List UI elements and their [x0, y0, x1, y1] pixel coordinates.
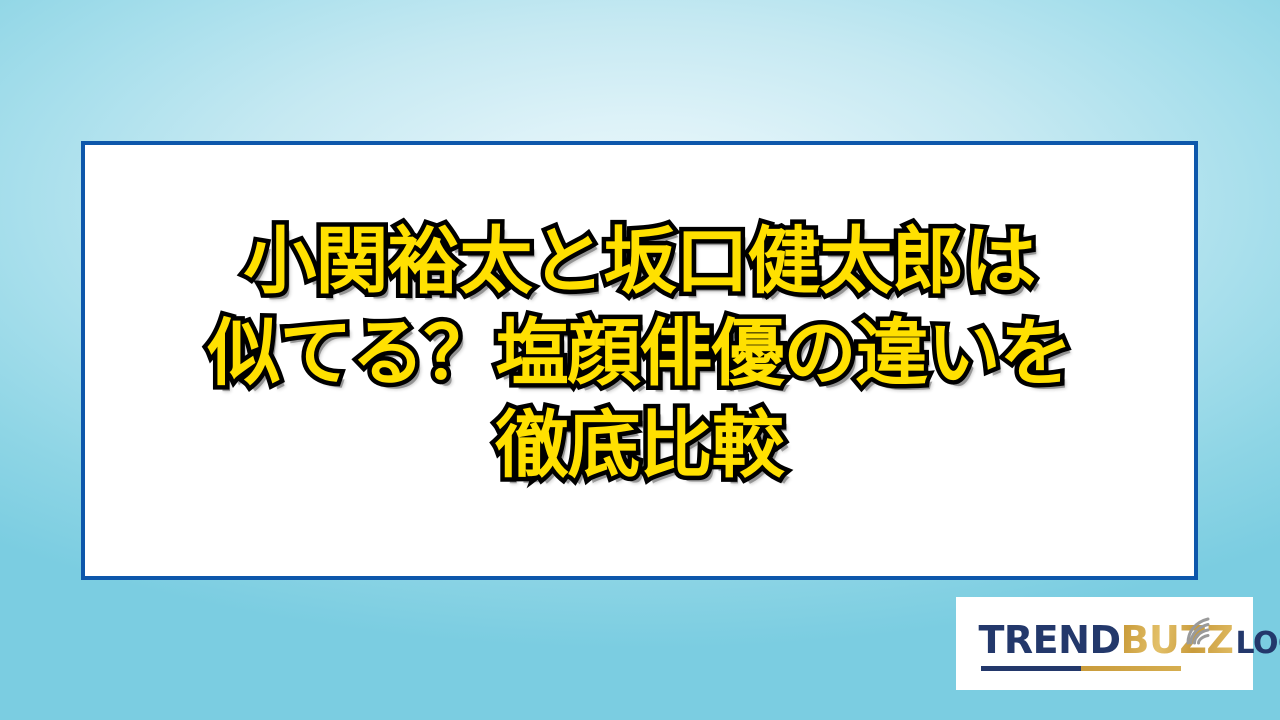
title-text-block: 小関裕太と坂口健太郎は 似てる？塩顔俳優の違いを 徹底比較: [85, 216, 1194, 506]
title-line-3: 徹底比較: [85, 400, 1194, 492]
title-line-2: 似てる？塩顔俳優の違いを: [85, 308, 1194, 400]
signal-waves-icon: [1184, 611, 1224, 645]
logo-underline-bar: [981, 666, 1181, 671]
logo-inner: TREND BUZZ LOG: [979, 615, 1231, 673]
title-line-1: 小関裕太と坂口健太郎は: [85, 216, 1194, 308]
logo-word-log: LOG: [1235, 629, 1280, 659]
logo-word-trend: TREND: [979, 621, 1121, 659]
site-logo-badge[interactable]: TREND BUZZ LOG: [956, 597, 1253, 690]
logo-wordmark: TREND BUZZ LOG: [979, 621, 1280, 659]
thumbnail-canvas: 小関裕太と坂口健太郎は 似てる？塩顔俳優の違いを 徹底比較 TREND BUZZ…: [0, 0, 1280, 720]
title-card: 小関裕太と坂口健太郎は 似てる？塩顔俳優の違いを 徹底比較: [81, 141, 1198, 580]
